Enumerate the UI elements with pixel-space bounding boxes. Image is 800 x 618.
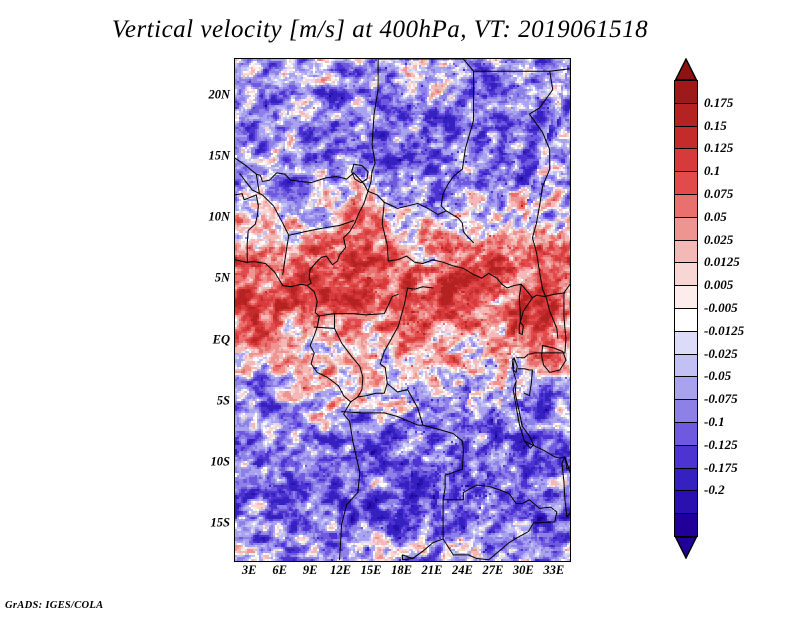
colorbar-cell-18: [674, 490, 698, 514]
grads-plot-root: Vertical velocity [m/s] at 400hPa, VT: 2…: [0, 0, 800, 618]
colorbar-label-0: 0.175: [704, 95, 733, 111]
x-tick-3E: 3E: [242, 563, 257, 578]
y-tick-10N: 10N: [208, 210, 230, 225]
y-tick-5N: 5N: [215, 271, 230, 286]
colorbar-cell-15: [674, 422, 698, 446]
colorbar-cell-9: [674, 285, 698, 309]
colorbar-cell-13: [674, 376, 698, 400]
colorbar-label-15: -0.125: [704, 437, 738, 453]
x-tick-24E: 24E: [452, 563, 473, 578]
colorbar-cell-10: [674, 308, 698, 332]
colorbar-label-8: 0.005: [704, 277, 733, 293]
colorbar-arrow-bottom: [674, 536, 698, 558]
colorbar: 0.1750.150.1250.10.0750.050.0250.01250.0…: [668, 58, 798, 558]
colorbar-label-2: 0.125: [704, 140, 733, 156]
colorbar-label-5: 0.05: [704, 209, 727, 225]
colorbar-label-9: -0.005: [704, 300, 738, 316]
colorbar-label-14: -0.1: [704, 414, 725, 430]
colorbar-label-12: -0.05: [704, 368, 731, 384]
colorbar-cell-14: [674, 399, 698, 423]
x-axis-tick-labels: 3E6E9E12E15E18E21E24E27E30E33E: [234, 563, 569, 587]
colorbar-label-17: -0.2: [704, 482, 725, 498]
x-tick-27E: 27E: [482, 563, 503, 578]
x-tick-18E: 18E: [391, 563, 412, 578]
colorbar-cell-5: [674, 194, 698, 218]
colorbar-label-1: 0.15: [704, 118, 727, 134]
map-plot-area: [234, 58, 571, 562]
colorbar-label-6: 0.025: [704, 232, 733, 248]
colorbar-cell-17: [674, 468, 698, 492]
x-tick-9E: 9E: [303, 563, 318, 578]
colorbar-cell-8: [674, 262, 698, 286]
colorbar-label-3: 0.1: [704, 163, 720, 179]
y-tick-15N: 15N: [208, 148, 230, 163]
x-tick-15E: 15E: [361, 563, 382, 578]
colorbar-cell-7: [674, 240, 698, 264]
x-tick-30E: 30E: [513, 563, 534, 578]
y-tick-15S: 15S: [211, 516, 230, 531]
colorbar-cell-0: [674, 80, 698, 104]
x-tick-33E: 33E: [543, 563, 564, 578]
x-tick-21E: 21E: [422, 563, 443, 578]
page-title: Vertical velocity [m/s] at 400hPa, VT: 2…: [0, 16, 760, 44]
colorbar-label-7: 0.0125: [704, 254, 740, 270]
x-tick-12E: 12E: [330, 563, 351, 578]
colorbar-label-11: -0.025: [704, 346, 738, 362]
colorbar-cell-12: [674, 354, 698, 378]
colorbar-cell-6: [674, 217, 698, 241]
colorbar-cell-2: [674, 126, 698, 150]
y-tick-20N: 20N: [208, 87, 230, 102]
colorbar-label-4: 0.075: [704, 186, 733, 202]
y-tick-EQ: EQ: [213, 332, 230, 347]
vertical-velocity-heatmap: [235, 59, 570, 561]
colorbar-swatches: [674, 58, 698, 558]
colorbar-cell-19: [674, 513, 698, 537]
colorbar-arrow-top: [674, 58, 698, 80]
footer-credit: GrADS: IGES/COLA: [5, 600, 103, 611]
colorbar-label-10: -0.0125: [704, 323, 744, 339]
colorbar-cell-16: [674, 445, 698, 469]
y-tick-5S: 5S: [217, 393, 230, 408]
colorbar-label-16: -0.175: [704, 460, 738, 476]
y-tick-10S: 10S: [211, 455, 230, 470]
colorbar-label-13: -0.075: [704, 391, 738, 407]
colorbar-cell-1: [674, 103, 698, 127]
y-axis-tick-labels: 20N15N10N5NEQ5S10S15S: [190, 58, 230, 560]
colorbar-cell-11: [674, 331, 698, 355]
colorbar-cell-4: [674, 171, 698, 195]
colorbar-cell-3: [674, 148, 698, 172]
x-tick-6E: 6E: [272, 563, 287, 578]
